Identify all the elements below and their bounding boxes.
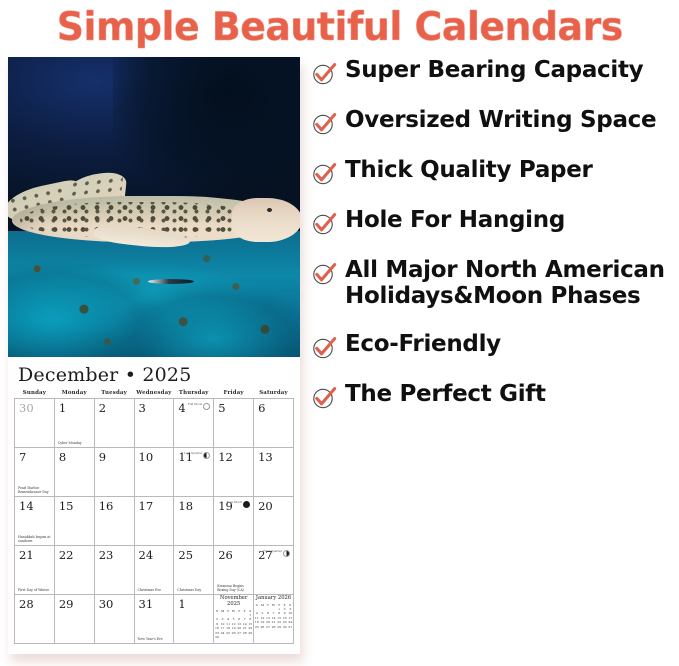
day-number: 9 [95, 448, 106, 464]
calendar-day-cell[interactable]: 14Hanukkah begins at sundown [15, 497, 55, 546]
feature-item: Eco-Friendly [312, 332, 675, 360]
holiday-label: Kwanzaa Begins Boxing Day (CA) [217, 584, 251, 592]
calendar-day-cell[interactable]: 4Full Moon [174, 399, 214, 448]
page-title: Simple Beautiful Calendars [56, 5, 622, 50]
calendar-card: December • 2025 Sunday Monday Tuesday We… [8, 57, 300, 654]
day-number: 24 [135, 546, 154, 562]
weekday-header: Friday [214, 389, 254, 399]
day-number: 30 [95, 595, 114, 611]
weekday-header-row: Sunday Monday Tuesday Wednesday Thursday… [15, 389, 294, 399]
check-circle-icon [312, 212, 336, 236]
mini-month-cell: November 2025SMTWTFS12345678910111213141… [214, 595, 254, 644]
calendar-day-cell[interactable]: 1Cyber Monday [54, 399, 94, 448]
day-number: 16 [95, 497, 114, 513]
weekday-header: Thursday [174, 389, 214, 399]
mini-day: 31 [287, 625, 293, 629]
moon-phase-label: First Quarter [263, 549, 282, 553]
mini-month-grid: SMTWTFS123456789101112131415161718192021… [214, 609, 253, 640]
calendar-day-cell[interactable]: 30 [15, 399, 55, 448]
calendar-day-cell[interactable]: 6 [254, 399, 294, 448]
day-number: 13 [254, 448, 273, 464]
holiday-label: New Year's Eve [138, 637, 172, 641]
day-number: 1 [174, 595, 185, 611]
calendar-day-cell[interactable]: 17 [134, 497, 174, 546]
feature-item: The Perfect Gift [312, 382, 675, 410]
holiday-label: Pearl Harbor Remembrance Day [18, 486, 52, 494]
calendar-week-row: 301Cyber Monday234Full Moon56 [15, 399, 294, 448]
day-number: 8 [55, 448, 66, 464]
check-circle-icon [312, 386, 336, 410]
check-circle-icon [312, 162, 336, 186]
holiday-label: Christmas Eve [138, 588, 172, 592]
calendar-week-row: 21First Day of Winter222324Christmas Eve… [15, 546, 294, 595]
holiday-label: Hanukkah begins at sundown [18, 535, 52, 543]
calendar-table: Sunday Monday Tuesday Wednesday Thursday… [14, 389, 294, 644]
calendar-day-cell[interactable]: 16 [94, 497, 134, 546]
weekday-header: Tuesday [94, 389, 134, 399]
calendar-day-cell[interactable]: 31New Year's Eve [134, 595, 174, 644]
day-number: 12 [214, 448, 233, 464]
feature-label: Oversized Writing Space [345, 108, 656, 134]
day-number: 26 [214, 546, 233, 562]
moon-phase-icon [283, 550, 290, 557]
calendar-day-cell[interactable]: 26Kwanzaa Begins Boxing Day (CA) [214, 546, 254, 595]
calendar-day-cell[interactable]: 2 [94, 399, 134, 448]
page-header: Simple Beautiful Calendars [0, 0, 679, 52]
shark-photo [8, 57, 300, 357]
calendar-day-cell[interactable]: 1 [174, 595, 214, 644]
day-number: 10 [135, 448, 154, 464]
calendar-day-cell[interactable]: 10 [134, 448, 174, 497]
day-number: 20 [254, 497, 273, 513]
day-number: 4 [174, 399, 185, 415]
feature-label: The Perfect Gift [345, 382, 546, 408]
feature-label: All Major North AmericanHolidays&Moon Ph… [345, 258, 665, 310]
day-number: 18 [174, 497, 193, 513]
day-number: 31 [135, 595, 154, 611]
calendar-day-cell[interactable]: 18 [174, 497, 214, 546]
calendar-week-row: 14Hanukkah begins at sundown1516171819Ne… [15, 497, 294, 546]
moon-phase-label: Full Moon [188, 402, 202, 406]
day-number: 29 [55, 595, 74, 611]
weekday-header: Monday [54, 389, 94, 399]
day-number: 30 [15, 399, 34, 415]
calendar-day-cell[interactable]: 19New Moon [214, 497, 254, 546]
calendar-day-cell[interactable]: 23 [94, 546, 134, 595]
calendar-day-cell[interactable]: 3 [134, 399, 174, 448]
moon-phase-label: New Moon [227, 500, 242, 504]
calendar-grid-area: December • 2025 Sunday Monday Tuesday We… [8, 357, 300, 654]
moon-phase-label: Last Quarter [184, 451, 202, 455]
calendar-day-cell[interactable]: 15 [54, 497, 94, 546]
cleaner-fish [148, 279, 194, 284]
feature-label: Eco-Friendly [345, 332, 501, 358]
feature-label: Hole For Hanging [345, 208, 565, 234]
calendar-day-cell[interactable]: 7Pearl Harbor Remembrance Day [15, 448, 55, 497]
shark-head [232, 198, 300, 242]
moon-phase-icon [203, 403, 210, 410]
calendar-day-cell[interactable]: 11Last Quarter [174, 448, 214, 497]
feature-list: Super Bearing CapacityOversized Writing … [310, 52, 679, 666]
zebra-shark-illustration [8, 180, 300, 258]
feature-item: All Major North AmericanHolidays&Moon Ph… [312, 258, 675, 310]
mini-month-grid: SMTWTFS123456789101112131415161718192021… [254, 603, 293, 630]
check-circle-icon [312, 112, 336, 136]
day-number: 23 [95, 546, 114, 562]
feature-label: Super Bearing Capacity [345, 58, 643, 84]
calendar-month-title: December • 2025 [14, 362, 294, 389]
calendar-day-cell[interactable]: 28 [15, 595, 55, 644]
holiday-label: Christmas Day [177, 588, 211, 592]
check-circle-icon [312, 62, 336, 86]
calendar-day-cell[interactable]: 5 [214, 399, 254, 448]
day-number: 6 [254, 399, 265, 415]
day-number: 25 [174, 546, 193, 562]
calendar-day-cell[interactable]: 30 [94, 595, 134, 644]
feature-item: Thick Quality Paper [312, 158, 675, 186]
calendar-day-cell[interactable]: 8 [54, 448, 94, 497]
weekday-header: Saturday [254, 389, 294, 399]
shark-eye [267, 208, 272, 212]
holiday-label: First Day of Winter [18, 588, 52, 592]
day-number: 15 [55, 497, 74, 513]
calendar-preview-column: December • 2025 Sunday Monday Tuesday We… [0, 52, 310, 666]
mini-day [248, 635, 254, 639]
day-number: 28 [15, 595, 34, 611]
moon-phase-icon [203, 452, 210, 459]
day-number: 3 [135, 399, 146, 415]
day-number: 21 [15, 546, 34, 562]
calendar-day-cell[interactable]: 13 [254, 448, 294, 497]
weekday-header: Sunday [15, 389, 55, 399]
calendar-day-cell[interactable]: 20 [254, 497, 294, 546]
feature-item: Oversized Writing Space [312, 108, 675, 136]
check-circle-icon [312, 262, 336, 286]
day-number: 17 [135, 497, 154, 513]
feature-label: Thick Quality Paper [345, 158, 593, 184]
mini-month-title: November 2025 [214, 595, 253, 607]
day-number: 5 [214, 399, 225, 415]
calendar-day-cell[interactable]: 12 [214, 448, 254, 497]
day-number: 7 [15, 448, 26, 464]
moon-phase-icon [243, 501, 250, 508]
day-number: 1 [55, 399, 66, 415]
main-content: December • 2025 Sunday Monday Tuesday We… [0, 52, 679, 666]
calendar-day-cell[interactable]: 22 [54, 546, 94, 595]
feature-item: Super Bearing Capacity [312, 58, 675, 86]
calendar-day-cell[interactable]: 9 [94, 448, 134, 497]
check-circle-icon [312, 336, 336, 360]
weekday-header: Wednesday [134, 389, 174, 399]
calendar-week-row: 7Pearl Harbor Remembrance Day891011Last … [15, 448, 294, 497]
feature-item: Hole For Hanging [312, 208, 675, 236]
mini-month-title: January 2026 [254, 595, 293, 601]
day-number: 14 [15, 497, 34, 513]
mini-month-cell: January 2026SMTWTFS123456789101112131415… [254, 595, 294, 644]
calendar-day-cell[interactable]: 29 [54, 595, 94, 644]
calendar-day-cell[interactable]: 25Christmas Day [174, 546, 214, 595]
calendar-day-cell[interactable]: 27First Quarter [254, 546, 294, 595]
calendar-day-cell[interactable]: 21First Day of Winter [15, 546, 55, 595]
holiday-label: Cyber Monday [58, 441, 92, 445]
calendar-week-row: 28293031New Year's Eve1November 2025SMTW… [15, 595, 294, 644]
day-number: 2 [95, 399, 106, 415]
day-number: 22 [55, 546, 74, 562]
calendar-day-cell[interactable]: 24Christmas Eve [134, 546, 174, 595]
